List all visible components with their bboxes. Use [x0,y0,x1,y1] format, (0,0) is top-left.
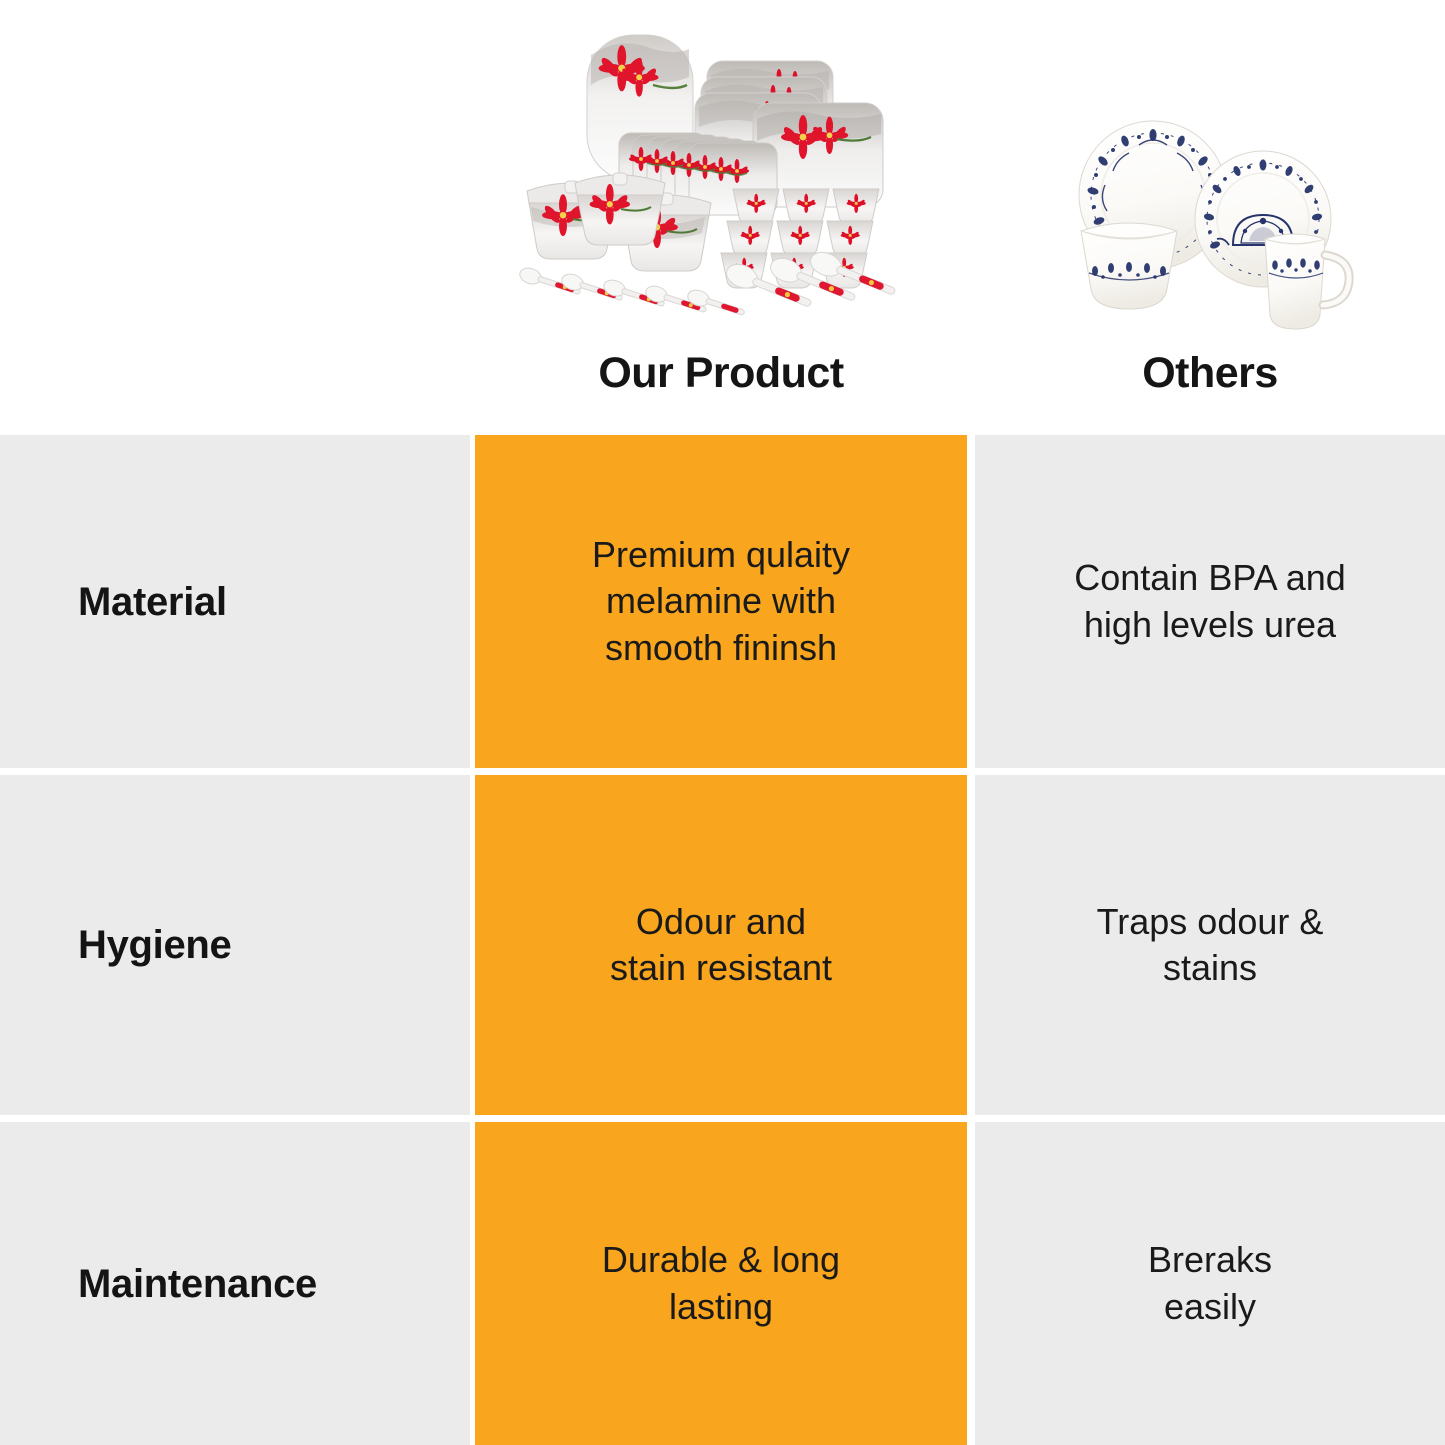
others-value: Traps odour & stains [1097,899,1324,991]
others-product-image [975,110,1445,338]
header-label-our-product: Our Product [475,352,967,395]
comparison-table: Material Premium qulaity melamine with s… [0,435,1445,1445]
others-cell: Contain BPA and high levels urea [975,435,1445,768]
others-value: Contain BPA and high levels urea [1074,555,1346,647]
header-column-our-product: Our Product [475,0,967,435]
comparison-header: Our Product [0,0,1445,435]
our-product-value: Durable & long lasting [602,1237,840,1329]
header-label-others: Others [975,352,1445,395]
our-product-cell: Odour and stain resistant [475,775,967,1115]
others-cell: Traps odour & stains [975,775,1445,1115]
our-product-cell: Premium qulaity melamine with smooth fin… [475,435,967,768]
our-product-value: Odour and stain resistant [610,899,832,991]
feature-label: Maintenance [78,1262,317,1306]
table-row: Hygiene Odour and stain resistant Traps … [0,775,1445,1115]
feature-label-cell: Hygiene [0,775,470,1115]
others-cell: Breraks easily [975,1122,1445,1445]
table-row: Material Premium qulaity melamine with s… [0,435,1445,768]
feature-label: Hygiene [78,923,232,967]
our-product-value: Premium qulaity melamine with smooth fin… [592,532,850,670]
feature-label-cell: Material [0,435,470,768]
our-product-cell: Durable & long lasting [475,1122,967,1445]
feature-label: Material [78,580,227,624]
feature-label-cell: Maintenance [0,1122,470,1445]
our-product-image [475,14,967,336]
others-value: Breraks easily [1148,1237,1272,1329]
table-row: Maintenance Durable & long lasting Brera… [0,1122,1445,1445]
header-column-others: Others [975,0,1445,435]
